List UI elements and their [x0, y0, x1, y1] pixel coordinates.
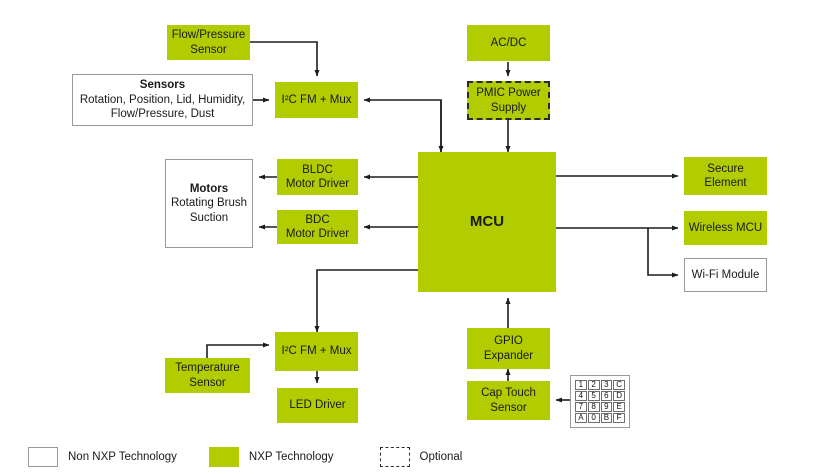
block-secure-element[interactable]: Secure Element — [684, 157, 767, 195]
block-wifi-module[interactable]: Wi-Fi Module — [684, 258, 767, 292]
block-diagram-canvas: Flow/Pressure Sensor Sensors Rotation, P… — [0, 0, 840, 474]
keypad-key-F[interactable]: F — [613, 413, 625, 423]
keypad-key-9[interactable]: 9 — [601, 402, 613, 412]
bldc-line2: Motor Driver — [286, 178, 349, 190]
gpio-expander-line2: Expander — [484, 350, 533, 362]
block-gpio-expander[interactable]: GPIO Expander — [467, 328, 550, 369]
keypad-key-1[interactable]: 1 — [575, 380, 587, 390]
cap-touch-sensor-line1: Cap Touch — [481, 387, 536, 399]
legend-label-non-nxp: Non NXP Technology — [68, 451, 177, 463]
mcu-label: MCU — [470, 213, 504, 232]
legend: Non NXP Technology NXP Technology Option… — [0, 440, 840, 474]
keypad-key-E[interactable]: E — [613, 402, 625, 412]
keypad-key-3[interactable]: 3 — [601, 380, 613, 390]
keypad-key-7[interactable]: 7 — [575, 402, 587, 412]
temperature-sensor-line1: Temperature — [175, 362, 240, 374]
flow-pressure-sensor-line2: Sensor — [190, 44, 226, 56]
pmic-line2: Supply — [491, 102, 526, 114]
wire-branch-to-wifi-module — [648, 228, 678, 275]
temperature-sensor-line2: Sensor — [189, 377, 225, 389]
motors-title: Motors — [171, 182, 247, 196]
block-mcu[interactable]: MCU — [418, 152, 556, 292]
gpio-expander-line1: GPIO — [494, 335, 523, 347]
sensors-line1: Rotation, Position, Lid, Humidity, — [80, 94, 245, 106]
block-i2c-fm-mux-top[interactable]: I²C FM + Mux — [275, 82, 358, 118]
block-pmic-power-supply[interactable]: PMIC Power Supply — [467, 81, 550, 120]
block-led-driver[interactable]: LED Driver — [277, 388, 358, 423]
keypad-key-4[interactable]: 4 — [575, 391, 587, 401]
wireless-mcu-label: Wireless MCU — [689, 221, 762, 235]
legend-label-optional: Optional — [420, 451, 463, 463]
legend-swatch-nxp-icon — [209, 447, 239, 467]
bdc-line1: BDC — [305, 214, 329, 226]
cap-touch-sensor-line2: Sensor — [490, 402, 526, 414]
keypad-key-A[interactable]: A — [575, 413, 587, 423]
bdc-line2: Motor Driver — [286, 228, 349, 240]
keypad-key-C[interactable]: C — [613, 380, 625, 390]
led-driver-label: LED Driver — [289, 398, 345, 412]
keypad-key-5[interactable]: 5 — [588, 391, 600, 401]
wire-mcu-to-i2c-bottom — [317, 270, 418, 332]
motors-line1: Rotating Brush — [171, 197, 247, 209]
block-bldc-motor-driver[interactable]: BLDC Motor Driver — [277, 159, 358, 195]
keypad-key-2[interactable]: 2 — [588, 380, 600, 390]
block-motors[interactable]: Motors Rotating Brush Suction — [165, 159, 253, 248]
i2c-top-label: I²C FM + Mux — [282, 93, 352, 107]
legend-swatch-non-nxp-icon — [28, 447, 58, 467]
keypad-key-D[interactable]: D — [613, 391, 625, 401]
secure-element-line1: Secure — [707, 163, 743, 175]
legend-swatch-optional-icon — [380, 447, 410, 467]
block-sensors[interactable]: Sensors Rotation, Position, Lid, Humidit… — [72, 74, 253, 126]
keypad-key-0[interactable]: 0 — [588, 413, 600, 423]
sensors-line2: Flow/Pressure, Dust — [111, 108, 215, 120]
block-bdc-motor-driver[interactable]: BDC Motor Driver — [277, 210, 358, 244]
wire-flow-sensor-to-i2c-top — [250, 42, 317, 76]
secure-element-line2: Element — [704, 177, 746, 189]
keypad-key-6[interactable]: 6 — [601, 391, 613, 401]
keypad-key-8[interactable]: 8 — [588, 402, 600, 412]
legend-item-optional: Optional — [380, 447, 463, 467]
block-i2c-fm-mux-bottom[interactable]: I²C FM + Mux — [275, 332, 358, 371]
i2c-bottom-label: I²C FM + Mux — [282, 344, 352, 358]
wire-temp-sensor-to-i2c-bottom — [207, 345, 269, 358]
motors-line2: Suction — [190, 212, 228, 224]
legend-item-non-nxp: Non NXP Technology — [28, 447, 177, 467]
flow-pressure-sensor-line1: Flow/Pressure — [172, 29, 246, 41]
block-flow-pressure-sensor[interactable]: Flow/Pressure Sensor — [167, 25, 250, 60]
keypad-graphic[interactable]: 123C456D789EA0BF — [570, 375, 630, 428]
bldc-line1: BLDC — [302, 164, 333, 176]
block-cap-touch-sensor[interactable]: Cap Touch Sensor — [467, 381, 550, 420]
block-acdc[interactable]: AC/DC — [467, 25, 550, 61]
legend-item-nxp: NXP Technology — [209, 447, 334, 467]
block-temperature-sensor[interactable]: Temperature Sensor — [165, 358, 250, 393]
legend-label-nxp: NXP Technology — [249, 451, 334, 463]
wire-i2c-top-to-mcu-segment-a — [364, 100, 441, 152]
keypad-key-B[interactable]: B — [601, 413, 613, 423]
acdc-label: AC/DC — [491, 36, 527, 50]
sensors-title: Sensors — [80, 78, 245, 92]
block-wireless-mcu[interactable]: Wireless MCU — [684, 211, 767, 245]
pmic-line1: PMIC Power — [476, 87, 541, 99]
wifi-module-label: Wi-Fi Module — [692, 268, 760, 282]
